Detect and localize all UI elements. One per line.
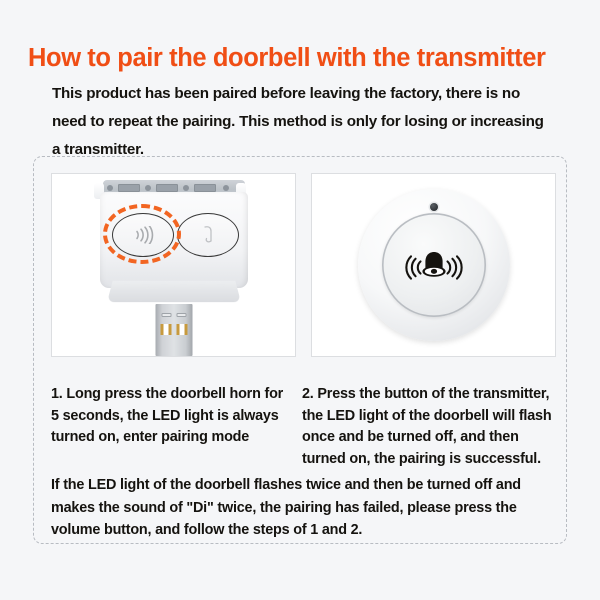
usb-connector-icon [155,304,192,356]
step-2-caption: 2. Press the button of the transmitter, … [302,384,555,470]
page-title: How to pair the doorbell with the transm… [28,43,580,73]
transmitter-press-button[interactable] [382,213,486,317]
usb-receiver-device [92,176,256,356]
led-indicator-icon [430,203,438,211]
bell-icon [200,224,216,246]
troubleshooting-note: If the LED light of the doorbell flashes… [51,474,559,542]
doorbell-transmitter-device [358,189,510,341]
instruction-card: 1. Long press the doorbell horn for 5 se… [33,156,567,544]
intro-paragraph: This product has been paired before leav… [52,80,552,164]
receiver-photo-panel [51,173,296,357]
image-panels [34,157,568,357]
instruction-page: How to pair the doorbell with the transm… [0,0,600,600]
volume-button-highlight [103,204,181,264]
chime-button[interactable] [177,213,239,257]
receiver-body [100,192,248,288]
step-1-caption: 1. Long press the doorbell horn for 5 se… [51,384,289,449]
bell-with-sound-icon [403,247,465,283]
transmitter-photo-panel [311,173,556,357]
